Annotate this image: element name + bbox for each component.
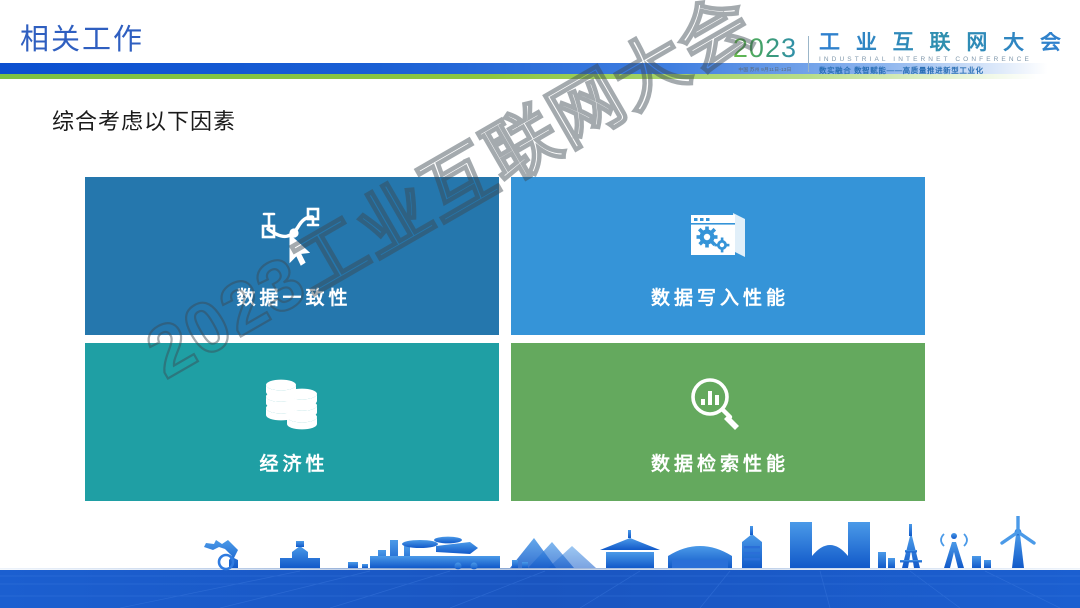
- card-write-performance[interactable]: 数据写入性能: [511, 177, 925, 335]
- card-query-performance[interactable]: 数据检索性能: [511, 343, 925, 501]
- card-label: 数据一致性: [232, 283, 351, 310]
- card-label: 数据检索性能: [647, 449, 789, 476]
- card-economy[interactable]: 经济性: [85, 343, 499, 501]
- logo-year: 2023: [733, 35, 797, 62]
- logo-year-block: 2023 中国 苏州 9月11日-13日: [733, 35, 808, 73]
- magnifier-barchart-icon: [683, 373, 753, 433]
- page-title: 相关工作: [20, 16, 144, 58]
- card-data-consistency[interactable]: 数据一致性: [85, 177, 499, 335]
- logo-divider: [808, 36, 809, 72]
- card-label: 数据写入性能: [647, 283, 789, 310]
- logo-name-cn: 工 业 互 联 网 大 会: [819, 32, 1066, 54]
- body-heading: 综合考虑以下因素: [52, 104, 236, 136]
- coin-stacks-icon: [257, 373, 327, 433]
- logo-date: 中国 苏州 9月11日-13日: [738, 66, 791, 73]
- bezier-path-cursor-icon: [254, 207, 330, 267]
- card-label: 经济性: [255, 449, 328, 476]
- footer-skyline: [0, 516, 1080, 608]
- factors-grid: 数据一致性: [85, 177, 943, 501]
- logo-slogan: 数实融合 数智赋能——高质量推进新型工业化: [819, 65, 1066, 76]
- window-gears-icon: [683, 207, 753, 267]
- slide: 相关工作 2023 中国 苏州 9月11日-13日 工 业 互 联 网 大 会 …: [0, 0, 1080, 608]
- logo-text-block: 工 业 互 联 网 大 会 INDUSTRIAL INTERNET CONFER…: [819, 32, 1066, 75]
- conference-logo: 2023 中国 苏州 9月11日-13日 工 业 互 联 网 大 会 INDUS…: [733, 30, 1066, 78]
- logo-name-en: INDUSTRIAL INTERNET CONFERENCE: [819, 56, 1066, 63]
